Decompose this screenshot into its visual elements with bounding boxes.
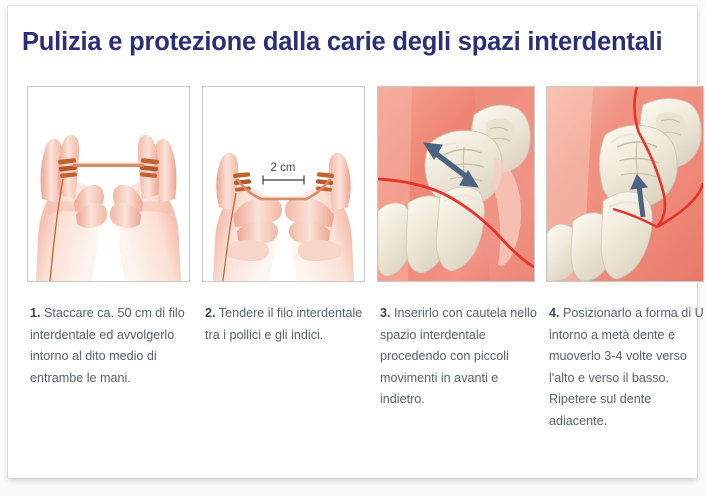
caption-2-number: 2. bbox=[205, 306, 216, 320]
illustration-panel-3 bbox=[377, 86, 535, 282]
poster-card: Pulizia e protezione dalla carie degli s… bbox=[8, 6, 697, 478]
caption-2: 2. Tendere il filo interdentale tra i po… bbox=[205, 303, 365, 346]
teeth-floss-insertion-illustration bbox=[378, 87, 534, 281]
caption-2-text: Tendere il filo interdentale tra i polli… bbox=[205, 306, 362, 342]
caption-1-text: Staccare ca. 50 cm di filo interdentale … bbox=[30, 306, 185, 385]
page-title: Pulizia e protezione dalla carie degli s… bbox=[22, 28, 692, 57]
caption-3-text: Inserirlo con cautela nello spazio inter… bbox=[380, 306, 537, 406]
poster-page: Pulizia e protezione dalla carie degli s… bbox=[0, 0, 705, 496]
illustration-panel-1 bbox=[27, 86, 190, 282]
caption-3: 3. Inserirlo con cautela nello spazio in… bbox=[380, 303, 540, 411]
caption-3-number: 3. bbox=[380, 306, 391, 320]
caption-row: 1. Staccare ca. 50 cm di filo interdenta… bbox=[19, 303, 703, 473]
illustration-panel-4 bbox=[546, 86, 704, 282]
caption-4-text: Posizionarlo a forma di U intorno a metà… bbox=[549, 306, 704, 428]
floss-wrap-right bbox=[316, 172, 334, 192]
illustration-panel-2: 2 cm bbox=[202, 86, 365, 282]
teeth-floss-u-shape-illustration bbox=[547, 87, 703, 281]
floss-wrap-right bbox=[140, 158, 159, 178]
illustration-panel-row: 2 cm bbox=[19, 86, 703, 284]
caption-1: 1. Staccare ca. 50 cm di filo interdenta… bbox=[30, 303, 190, 389]
measurement-label: 2 cm bbox=[271, 162, 296, 174]
caption-4-number: 4. bbox=[549, 306, 560, 320]
caption-4: 4. Posizionarlo a forma di U intorno a m… bbox=[549, 303, 705, 432]
hands-floss-wound-illustration bbox=[28, 87, 189, 281]
hands-floss-tensioned-illustration: 2 cm bbox=[203, 87, 364, 281]
floss-wrap-left bbox=[233, 172, 251, 192]
caption-1-number: 1. bbox=[30, 306, 41, 320]
floss-wrap-left bbox=[58, 158, 77, 178]
